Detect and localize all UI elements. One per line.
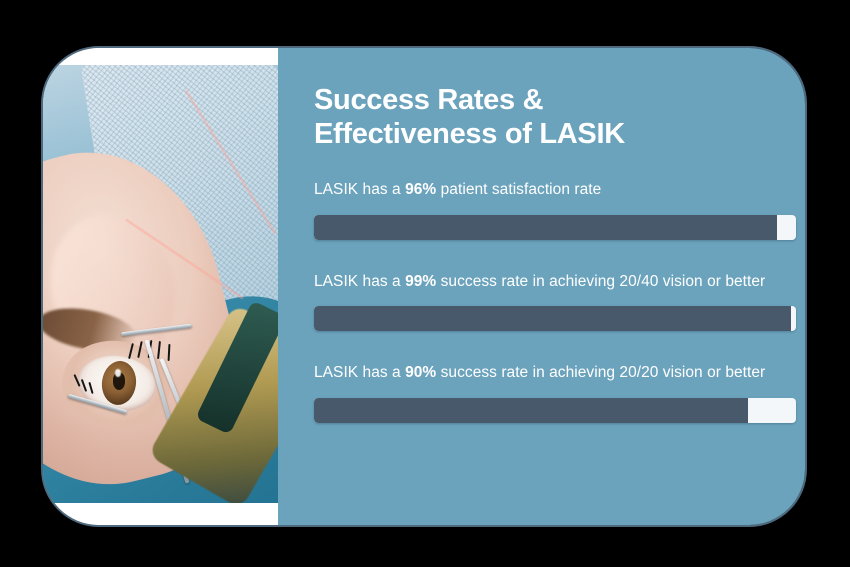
progress-bar-fill bbox=[314, 215, 777, 240]
speculum-tine bbox=[167, 344, 169, 361]
page-title: Success Rates & Effectiveness of LASIK bbox=[314, 84, 764, 152]
progress-bar-fill bbox=[314, 306, 791, 331]
stat-suffix: success rate in achieving 20/20 vision o… bbox=[436, 364, 765, 381]
stat-value: 96% bbox=[405, 181, 436, 198]
progress-bar-track bbox=[314, 398, 796, 423]
stat-row: LASIK has a 90% success rate in achievin… bbox=[314, 362, 796, 423]
progress-bar-track bbox=[314, 215, 796, 240]
photo-top-border bbox=[43, 48, 278, 65]
stat-prefix: LASIK has a bbox=[314, 364, 405, 381]
eye-highlight-glint bbox=[115, 369, 121, 377]
stats-list: LASIK has a 96% patient satisfaction rat… bbox=[314, 179, 796, 423]
lasik-surgery-photo bbox=[43, 65, 278, 503]
stat-prefix: LASIK has a bbox=[314, 273, 405, 290]
stat-row: LASIK has a 99% success rate in achievin… bbox=[314, 271, 796, 332]
surgery-photo-panel bbox=[43, 48, 278, 525]
progress-bar-track bbox=[314, 306, 796, 331]
stat-prefix: LASIK has a bbox=[314, 181, 405, 198]
photo-bottom-border bbox=[43, 503, 278, 525]
content-panel: Success Rates & Effectiveness of LASIK L… bbox=[278, 48, 805, 525]
stat-row: LASIK has a 96% patient satisfaction rat… bbox=[314, 179, 796, 240]
stat-label: LASIK has a 99% success rate in achievin… bbox=[314, 271, 796, 293]
stat-value: 99% bbox=[405, 273, 436, 290]
progress-bar-fill bbox=[314, 398, 748, 423]
stat-label: LASIK has a 96% patient satisfaction rat… bbox=[314, 179, 796, 201]
stat-value: 90% bbox=[405, 364, 436, 381]
stat-suffix: success rate in achieving 20/40 vision o… bbox=[436, 273, 765, 290]
stat-suffix: patient satisfaction rate bbox=[436, 181, 601, 198]
stat-label: LASIK has a 90% success rate in achievin… bbox=[314, 362, 796, 384]
lasik-stats-card: Success Rates & Effectiveness of LASIK L… bbox=[43, 48, 805, 525]
screenshot-stage: Success Rates & Effectiveness of LASIK L… bbox=[0, 0, 850, 567]
